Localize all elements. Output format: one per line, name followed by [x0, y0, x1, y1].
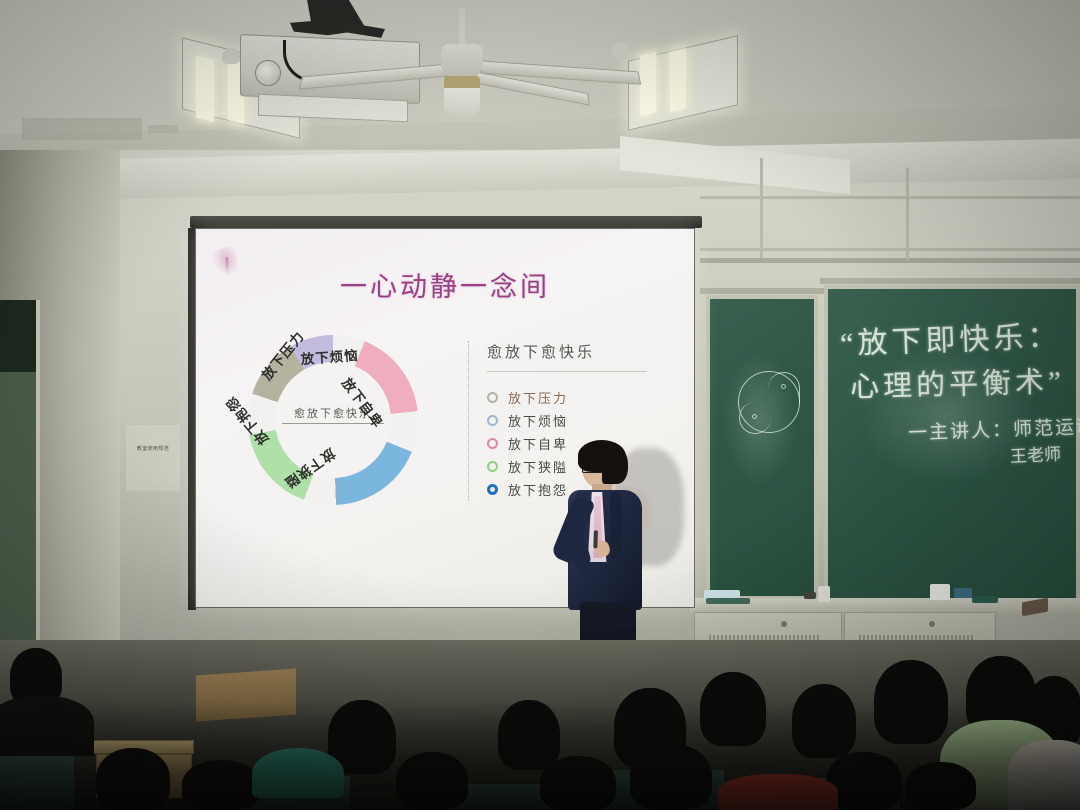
- legend-bullet-icon: [487, 392, 498, 403]
- donut-center-text: 愈放下愈快乐: [248, 405, 418, 421]
- ledge-box: [930, 584, 950, 600]
- audience-head: [540, 756, 616, 810]
- audience-head: [792, 684, 856, 758]
- fan-down-rod: [459, 8, 465, 46]
- yin-yang-icon: [738, 371, 800, 433]
- cabinet-knob-right[interactable]: [929, 621, 935, 627]
- chalkboard-right-panel: “放下即快乐： 心理的平衡术” 一主讲人：师范运动 王老师: [824, 285, 1080, 603]
- donut-segment-label: 放下烦恼: [300, 344, 359, 368]
- slide-title: 一心动静一念间: [196, 265, 694, 304]
- door-glass-panel: [0, 300, 36, 372]
- legend-row: 放下压力: [487, 386, 668, 409]
- wall-notice-text: 教室使用规范: [126, 425, 180, 452]
- audience-head: [182, 760, 260, 810]
- audience-shoulders-cream: [1008, 740, 1080, 810]
- legend-bullet-icon: [487, 484, 498, 495]
- legend-label: 放下烦恼: [508, 411, 568, 430]
- classroom-scene: 教室使用规范 “放下即快乐： 心理的平衡术” 一主讲人：师范运动 王老师: [0, 0, 1080, 810]
- legend-row: 放下烦恼: [487, 409, 668, 432]
- legend-label: 放下压力: [508, 388, 568, 407]
- ceiling-panel-small: [148, 125, 178, 133]
- board-rail-right: [820, 278, 1080, 284]
- chalk-heading-line2: 心理的平衡术”: [849, 358, 1065, 406]
- audience-head: [498, 700, 560, 770]
- ceiling-hook-left: [222, 48, 240, 64]
- legend-bullet-icon: [487, 461, 498, 472]
- legend-bullet-icon: [487, 438, 498, 449]
- yin-yang-dot-lower: [752, 414, 757, 419]
- audience-head: [874, 660, 948, 744]
- ledge-marker-case[interactable]: [954, 588, 972, 598]
- ledge-cup: [818, 586, 830, 602]
- curtain-rail: [700, 258, 1080, 263]
- ledge-duster[interactable]: [972, 596, 998, 603]
- fan-light-shade: [444, 88, 480, 116]
- presenter-hair-back: [602, 446, 628, 484]
- yin-yang-dot-upper: [781, 384, 786, 389]
- presenter-clicker[interactable]: [593, 530, 598, 548]
- cabinet-knob-left[interactable]: [781, 621, 787, 627]
- audience-head: [396, 752, 468, 810]
- audience-head: [96, 748, 170, 810]
- hanger-rod-b: [906, 168, 909, 260]
- hanger-rod-a: [760, 158, 763, 258]
- wall-conduit-a: [700, 196, 1080, 199]
- chair-back-far-left: [0, 756, 74, 810]
- board-rail-left: [700, 288, 824, 294]
- chalk-heading-line1: “放下即快乐：: [839, 311, 1062, 363]
- fan-motor-housing: [441, 44, 483, 78]
- ceiling-vent-panel: [22, 118, 142, 140]
- legend-title: 愈放下愈快乐: [487, 341, 647, 372]
- audience-shoulders: [0, 696, 94, 756]
- chalk-presenter-name: 王老师: [1009, 440, 1061, 468]
- wall-notice-paper: 教室使用规范: [126, 425, 180, 491]
- cardboard-box: [196, 669, 296, 722]
- light-tube-right-a: [640, 52, 656, 116]
- screen-roller-housing: [190, 216, 702, 228]
- ceiling-hook-right: [612, 42, 630, 58]
- audience-head: [630, 744, 712, 810]
- legend-bullet-icon: [487, 415, 498, 426]
- ledge-eraser[interactable]: [804, 592, 816, 599]
- wall-conduit-b: [700, 248, 1080, 251]
- light-tube-left-a: [196, 56, 214, 122]
- audience-head: [700, 672, 766, 746]
- projector-lens: [255, 60, 281, 86]
- donut-chart: 愈放下愈快乐 放下压力放下烦恼放下自卑放下狭隘放下抱怨: [248, 335, 418, 505]
- audience-head: [906, 762, 976, 810]
- ledge-tray: [706, 598, 750, 604]
- chalkboard-left-panel: [706, 295, 818, 600]
- audience-shoulders-red: [718, 774, 838, 810]
- light-tube-right-b: [670, 48, 686, 112]
- audience-cap: [252, 748, 344, 798]
